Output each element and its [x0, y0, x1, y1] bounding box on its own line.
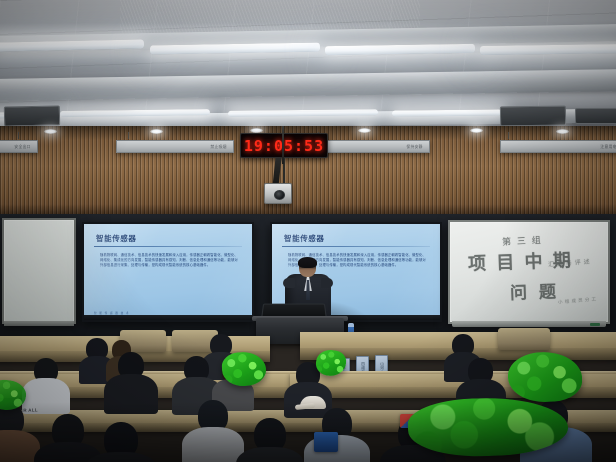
projector-pole: [282, 126, 284, 164]
wall-downlight-2: [150, 129, 163, 134]
ceiling-light-4: [480, 44, 616, 55]
slide-body-left: 随着物联网、通信技术、信息技术的快速发展和深入应用，传感器正朝着智能化、微型化、…: [100, 253, 238, 268]
wall-downlight-6: [556, 129, 569, 134]
person-torso: [236, 447, 304, 462]
wall-panel-3: 保持安静: [312, 140, 430, 153]
left-whiteboard-tray: [4, 321, 74, 326]
whiteboard-line-1: 第 三 组: [502, 233, 543, 248]
wall-downlight-1: [44, 129, 57, 134]
slide-title-right: 智能传感器: [284, 233, 325, 244]
presenter-shoulder-left: [283, 278, 295, 288]
wall-downlight-4: [358, 128, 371, 133]
left-whiteboard: [2, 218, 76, 324]
wall-downlight-5: [470, 128, 483, 133]
panel-hook-2: [128, 132, 129, 139]
ceiling-vent-right: [500, 106, 566, 127]
slide-divider-left: [94, 246, 242, 247]
wall-panel-1-label: 安全出口: [14, 144, 30, 150]
slide-title-left: 智能传感器: [96, 233, 137, 244]
presenter-hair: [298, 257, 317, 268]
ceiling-vent-far-right: [575, 108, 616, 124]
clock-time: 19:05:53: [244, 137, 324, 155]
lecture-hall-photo: 安全出口 禁止吸烟 保持安静 注意用电 19:05:53 智能传感器 随着物联网…: [0, 0, 616, 462]
ceiling: [0, 0, 616, 128]
slide-divider-right: [282, 246, 430, 247]
seat-back-3: [498, 328, 550, 350]
wall-panel-4: 注意用电: [500, 140, 616, 153]
ceiling-vent-left: [4, 106, 60, 127]
wall-panel-4-label: 注意用电: [600, 144, 616, 150]
left-whiteboard-frame: [4, 220, 74, 322]
projector-lens-icon: [274, 190, 285, 200]
person-torso: [104, 374, 158, 414]
white-cap: [300, 396, 326, 409]
whiteboard-line-4: 问 题: [510, 277, 560, 304]
wall-panel-3-label: 保持安静: [406, 144, 422, 150]
ceiling-light-7: [392, 110, 502, 117]
panel-hook-4: [508, 132, 509, 139]
whiteboard-marker: [590, 323, 600, 326]
cap-brim: [295, 403, 315, 410]
wall-panel-2: 禁止吸烟: [116, 140, 234, 153]
right-whiteboard: 第 三 组 项 目 中 期 汇 报 与 评 述 问 题 小 组 成 员 分 工: [448, 220, 610, 324]
water-bottle-cap: [348, 323, 354, 327]
left-screen-bezel: [84, 315, 252, 320]
led-wall-clock: 19:05:53: [240, 133, 328, 158]
ceiling-projector: [264, 183, 292, 204]
right-whiteboard-tray: [452, 321, 606, 327]
presenter-shoulder-right: [321, 278, 333, 288]
person-torso: [182, 427, 244, 462]
panel-hook-1: [18, 132, 19, 139]
blue-storage-box: [314, 432, 338, 452]
wall-panel-2-label: 禁止吸烟: [210, 144, 226, 150]
wall-panel-1: 安全出口: [0, 140, 38, 153]
projection-screen-left: 智能传感器 随着物联网、通信技术、信息技术的快速发展和深入应用，传感器正朝着智能…: [82, 222, 254, 322]
